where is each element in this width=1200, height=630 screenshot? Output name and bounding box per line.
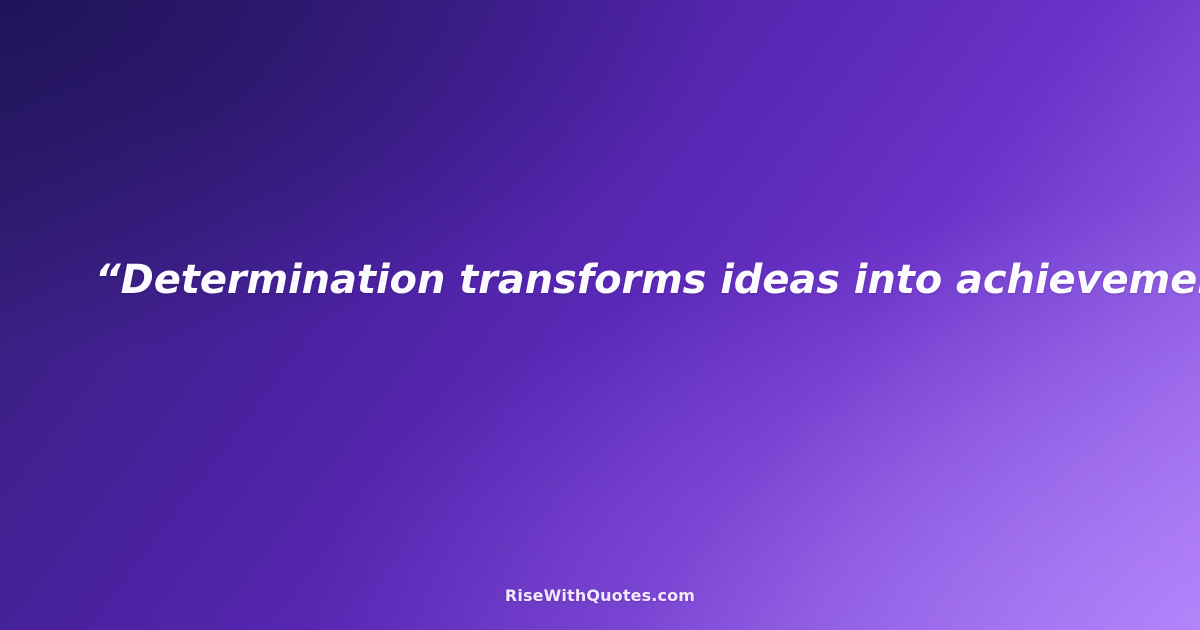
quote-card: “Determination transforms ideas into ach… bbox=[0, 0, 1200, 630]
quote-area: “Determination transforms ideas into ach… bbox=[0, 0, 1200, 560]
footer-area: RiseWithQuotes.com bbox=[0, 560, 1200, 630]
site-credit: RiseWithQuotes.com bbox=[505, 586, 695, 605]
quote-text: “Determination transforms ideas into ach… bbox=[35, 254, 1165, 307]
